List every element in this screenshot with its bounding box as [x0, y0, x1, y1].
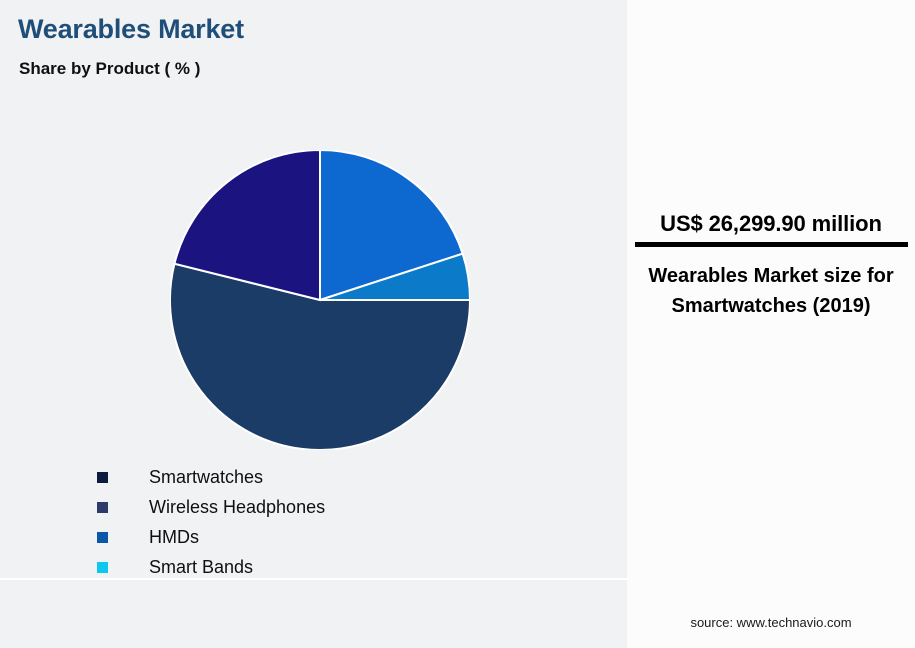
legend-item[interactable]: Smartwatches: [97, 462, 597, 492]
chart-legend: SmartwatchesWireless HeadphonesHMDsSmart…: [97, 462, 597, 582]
legend-item[interactable]: Smart Bands: [97, 552, 597, 582]
callout-block: US$ 26,299.90 million Wearables Market s…: [627, 210, 915, 321]
pie-slice-group: [170, 150, 470, 450]
chart-canvas: Wearables Market Share by Product ( % ) …: [0, 0, 915, 648]
pie-chart-svg: [170, 150, 470, 450]
legend-swatch-icon: [97, 502, 108, 513]
callout-value: US$ 26,299.90 million: [627, 210, 915, 238]
legend-item[interactable]: HMDs: [97, 522, 597, 552]
callout-panel: [627, 0, 915, 648]
legend-item-label: Wireless Headphones: [149, 498, 325, 516]
chart-subtitle: Share by Product ( % ): [19, 59, 200, 79]
legend-item-label: HMDs: [149, 528, 199, 546]
chart-panel-footer: [0, 580, 627, 648]
legend-item[interactable]: Wireless Headphones: [97, 492, 597, 522]
legend-swatch-icon: [97, 532, 108, 543]
legend-swatch-icon: [97, 472, 108, 483]
source-attribution: source: www.technavio.com: [627, 615, 915, 630]
legend-swatch-icon: [97, 562, 108, 573]
legend-item-label: Smart Bands: [149, 558, 253, 576]
legend-item-label: Smartwatches: [149, 468, 263, 486]
callout-divider: [635, 242, 908, 247]
page-title: Wearables Market: [18, 14, 244, 45]
pie-chart: [170, 150, 470, 450]
callout-description: Wearables Market size for Smartwatches (…: [627, 261, 915, 322]
